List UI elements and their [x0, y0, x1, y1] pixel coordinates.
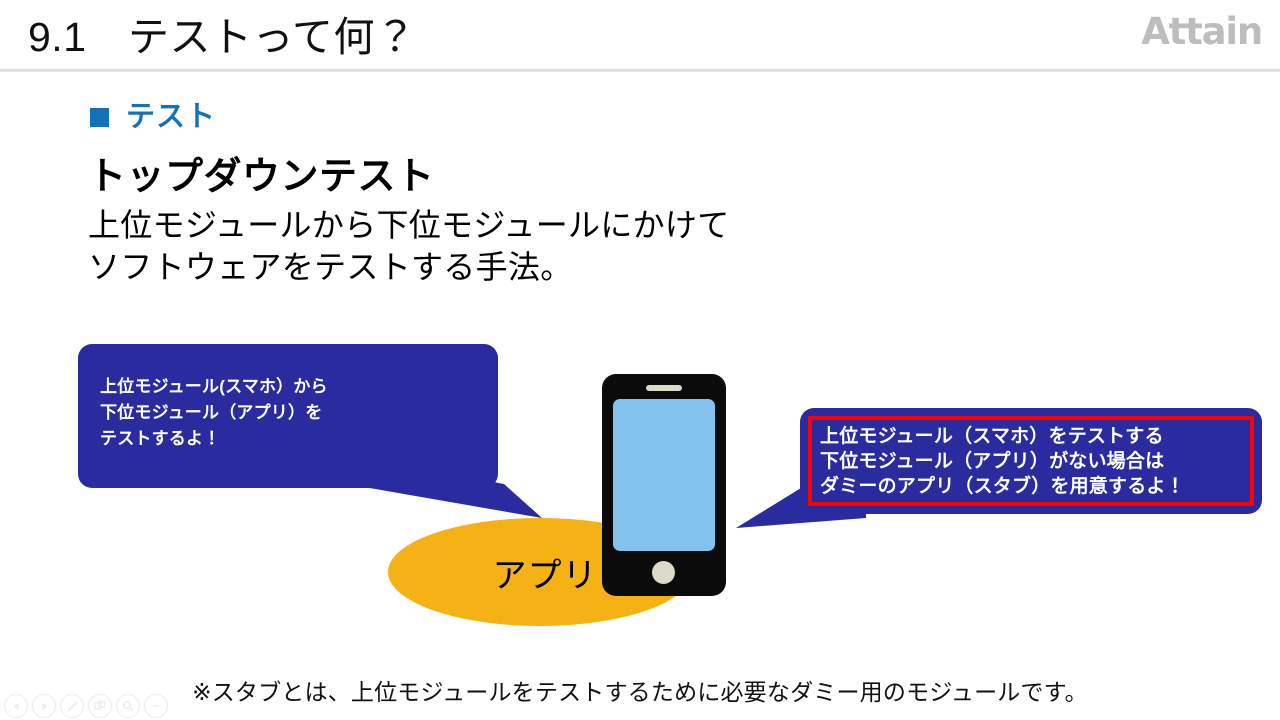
phone-home-button-icon	[652, 561, 675, 584]
section-bullet: テスト	[90, 101, 216, 133]
phone-screen	[613, 399, 715, 551]
slide-header: 9.1 テストって何？ Attain	[0, 0, 1280, 72]
speech-bubble-left: 上位モジュール(スマホ）から 下位モジュール（アプリ）を テストするよ！	[78, 344, 498, 488]
more-icon[interactable]	[144, 694, 168, 718]
speech-bubble-left-text: 上位モジュール(スマホ）から 下位モジュール（アプリ）を テストするよ！	[100, 374, 328, 452]
square-bullet-icon	[90, 108, 109, 127]
zoom-icon[interactable]	[116, 694, 140, 718]
slides-icon[interactable]	[88, 694, 112, 718]
pen-icon[interactable]	[60, 694, 84, 718]
speech-bubble-right: 上位モジュール（スマホ）をテストする 下位モジュール（アプリ）がない場合は ダミ…	[800, 408, 1262, 514]
phone-speaker-icon	[646, 385, 682, 391]
previous-icon[interactable]	[4, 694, 28, 718]
lead-body: 上位モジュールから下位モジュールにかけて ソフトウェアをテストする手法。	[88, 204, 730, 288]
page-title: 9.1 テストって何？	[28, 8, 416, 66]
section-bullet-label: テスト	[126, 101, 216, 133]
viewer-toolbar	[4, 694, 168, 718]
brand-logo: Attain	[1141, 6, 1262, 58]
diagram-stage: 上位モジュール(スマホ）から 下位モジュール（アプリ）を テストするよ！ 上位モ…	[0, 330, 1280, 650]
next-icon[interactable]	[32, 694, 56, 718]
smartphone-icon	[602, 374, 726, 596]
lead-heading: トップダウンテスト	[88, 155, 435, 199]
footer-note: ※スタブとは、上位モジュールをテストするために必要なダミー用のモジュールです。	[0, 676, 1280, 708]
speech-bubble-right-text: 上位モジュール（スマホ）をテストする 下位モジュール（アプリ）がない場合は ダミ…	[820, 424, 1185, 499]
